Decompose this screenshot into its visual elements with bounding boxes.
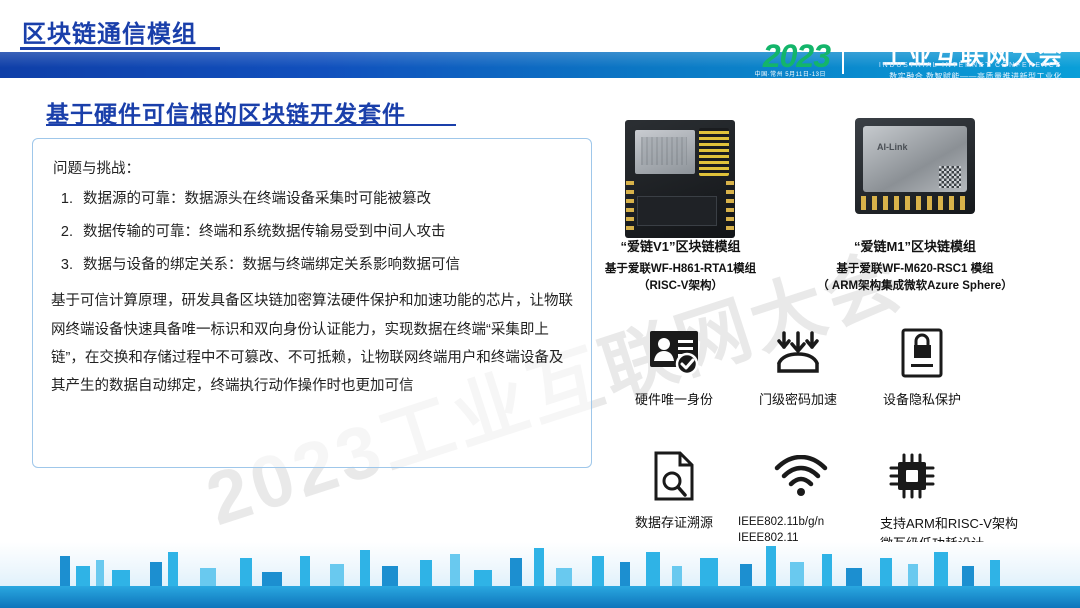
logo-divider [842, 40, 844, 74]
feature-privacy-protection: 设备隐私保护 [866, 325, 978, 409]
conference-name-en: INDUSTRIAL INTERNET CONFERENCE [879, 62, 1062, 69]
conference-slogan: 数实融合 数智赋能——高质量推进新型工业化 [889, 71, 1062, 82]
document-search-icon [646, 448, 702, 504]
list-item: 数据传输的可靠：终端和系统数据传输易受到中间人攻击 [77, 222, 573, 244]
module-name-v1: “爱链V1”区块链模组 [588, 236, 773, 255]
qr-code [939, 166, 961, 188]
footer-skyline [0, 542, 1080, 608]
id-badge-check-icon [646, 325, 702, 381]
feature-label: 硬件唯一身份 [618, 391, 730, 409]
download-gate-icon [770, 325, 826, 381]
section-underline [46, 124, 456, 126]
list-item: 数据与设备的绑定关系：数据与终端绑定关系影响数据可信 [77, 255, 573, 277]
chip-icon [884, 448, 940, 504]
module-caption-m1: “爱链M1”区块链模组 基于爱联WF-M620-RSC1 模组 （ ARM架构集… [790, 236, 1040, 294]
module-caption-v1: “爱链V1”区块链模组 基于爱联WF-H861-RTA1模组 （RISC-V架构… [588, 236, 773, 294]
rf-shield [635, 130, 695, 174]
chip-block [637, 196, 717, 226]
feature-label: 设备隐私保护 [866, 391, 978, 409]
antenna-trace [699, 128, 729, 176]
title-underline [20, 47, 220, 50]
feature-hardware-identity: 硬件唯一身份 [618, 325, 730, 409]
feature-crypto-acceleration: 门级密码加速 [742, 325, 854, 409]
content-panel: 问题与挑战： 数据源的可靠：数据源头在终端设备采集时可能被篡改 数据传输的可靠：… [32, 138, 592, 468]
panel-paragraph: 基于可信计算原理，研发具备区块链加密算法硬件保护和加速功能的芯片，让物联网终端设… [51, 287, 573, 400]
challenge-list: 数据源的可靠：数据源头在终端设备采集时可能被篡改 数据传输的可靠：终端和系统数据… [55, 189, 573, 276]
pin-row-right [726, 176, 734, 230]
feature-label: 数据存证溯源 [618, 514, 730, 532]
module-photo-v1 [625, 120, 735, 238]
pin-row-left [626, 176, 634, 230]
document-lock-icon [894, 325, 950, 381]
page-title: 区块链通信模组 [22, 14, 197, 49]
module-sub-m1: 基于爱联WF-M620-RSC1 模组 （ ARM架构集成微软Azure Sph… [790, 261, 1040, 294]
module-photo-m1 [855, 118, 975, 214]
footer-water-band [0, 586, 1080, 608]
conference-date-label: 中国·常州 5月11日-13日 [755, 69, 826, 78]
wifi-icon [773, 448, 829, 504]
pad-row [861, 196, 969, 210]
feature-label: 门级密码加速 [742, 391, 854, 409]
panel-lead: 问题与挑战： [53, 157, 573, 178]
module-sub-v1: 基于爱联WF-H861-RTA1模组 （RISC-V架构） [588, 261, 773, 294]
module-name-m1: “爱链M1”区块链模组 [790, 236, 1040, 255]
list-item: 数据源的可靠：数据源头在终端设备采集时可能被篡改 [77, 189, 573, 211]
feature-data-traceability: 数据存证溯源 [618, 448, 730, 532]
feature-arm-riscv-support: 支持ARM和RISC-V架构 微瓦级低功耗设计 [880, 448, 1050, 554]
